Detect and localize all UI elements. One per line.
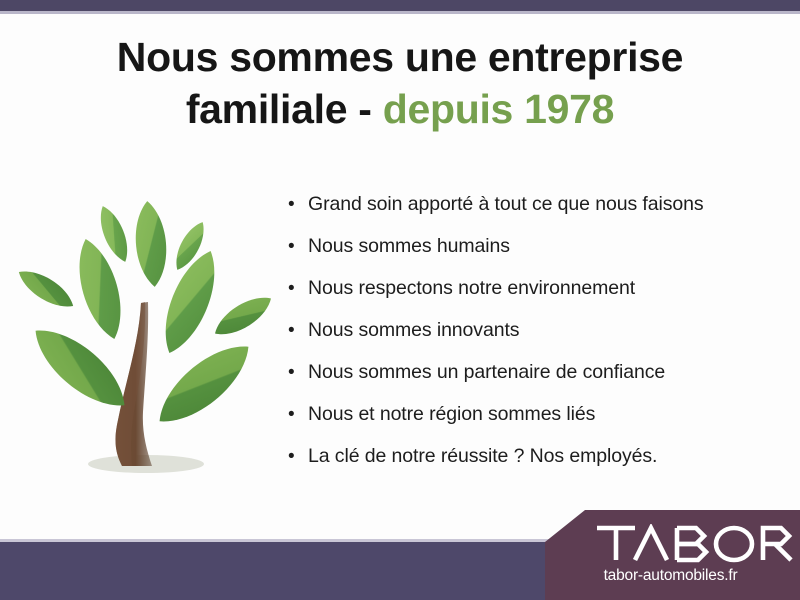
list-item: • Nous sommes humains (288, 235, 788, 277)
list-item: • Grand soin apporté à tout ce que nous … (288, 193, 788, 235)
top-accent-line (0, 11, 800, 14)
bullet-marker-icon: • (288, 195, 308, 214)
title-line-1: Nous sommes une entreprise (0, 34, 800, 82)
list-item: • La clé de notre réussite ? Nos employé… (288, 445, 788, 487)
bullet-text: Nous sommes humains (308, 235, 510, 258)
bullet-marker-icon: • (288, 405, 308, 424)
brand-website: tabor-automobiles.fr (545, 567, 800, 585)
leaf-lower-right (147, 332, 261, 436)
bullet-marker-icon: • (288, 363, 308, 382)
list-item: • Nous respectons notre environnement (288, 277, 788, 319)
title-line-2-accent: depuis 1978 (383, 86, 614, 132)
bullet-text: Nous respectons notre environnement (308, 277, 635, 300)
list-item: • Nous sommes innovants (288, 319, 788, 361)
bullet-text: Nous et notre région sommes liés (308, 403, 595, 426)
bullet-marker-icon: • (288, 237, 308, 256)
bullet-marker-icon: • (288, 279, 308, 298)
title-line-2-plain: familiale - (186, 86, 372, 132)
bullet-text: Grand soin apporté à tout ce que nous fa… (308, 193, 704, 216)
top-accent-bar (0, 0, 800, 11)
bullet-marker-icon: • (288, 321, 308, 340)
leaf-right-outer (209, 289, 277, 343)
leaf-lower-left (23, 316, 137, 420)
bullet-text: La clé de notre réussite ? Nos employés. (308, 445, 657, 468)
bullet-text: Nous sommes un partenaire de confiance (308, 361, 665, 384)
page-title: Nous sommes une entreprise familiale - d… (0, 34, 800, 133)
tree-illustration (18, 192, 280, 492)
slide-canvas: Nous sommes une entreprise familiale - d… (0, 0, 800, 600)
list-item: • Nous et notre région sommes liés (288, 403, 788, 445)
title-line-2: familiale - depuis 1978 (0, 86, 800, 134)
bullet-text: Nous sommes innovants (308, 319, 519, 342)
list-item: • Nous sommes un partenaire de confiance (288, 361, 788, 403)
bullet-marker-icon: • (288, 447, 308, 466)
leaf-left-outer (18, 263, 79, 315)
bullet-list: • Grand soin apporté à tout ce que nous … (288, 193, 788, 487)
tabor-wordmark-icon (595, 524, 795, 564)
leaf-top-center (132, 200, 169, 288)
brand-logo-block: tabor-automobiles.fr (545, 510, 800, 600)
